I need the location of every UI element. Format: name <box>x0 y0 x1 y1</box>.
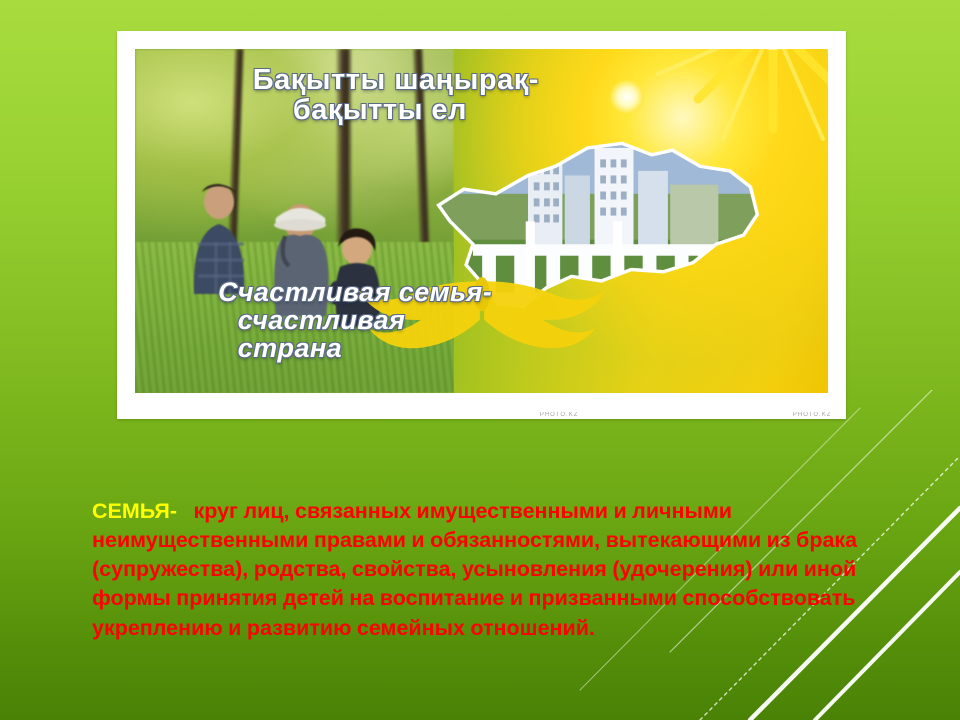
picture-frame[interactable]: Бақытты шаңырақ-бақытты ел Счастливая се… <box>117 31 846 419</box>
poster-title-kz-line2: бақытты ел <box>253 96 539 126</box>
definition-term: СЕМЬЯ- <box>92 499 177 523</box>
poster-watermark-right: PHOTO.KZ <box>793 412 832 418</box>
definition-gap <box>177 499 193 523</box>
poster-title-ru-line1: Счастливая семья- <box>218 277 492 307</box>
poster-title-russian: Счастливая семья-счастливая страна <box>218 279 498 362</box>
poster-image: Бақытты шаңырақ-бақытты ел Счастливая се… <box>135 49 828 393</box>
poster-watermark-left: PHOTO.KZ <box>540 412 579 418</box>
poster-title-ru-line2: счастливая страна <box>218 307 498 362</box>
sun-core-icon <box>610 80 644 114</box>
poster-title-kz-line1: Бақытты шаңырақ- <box>253 64 539 96</box>
poster-title-kazakh: Бақытты шаңырақ-бақытты ел <box>253 66 539 125</box>
definition-body-text: круг лиц, связанных имущественными и лич… <box>92 499 857 640</box>
definition-paragraph: СЕМЬЯ- круг лиц, связанных имущественным… <box>92 497 892 643</box>
slide-canvas: Бақытты шаңырақ-бақытты ел Счастливая се… <box>0 0 960 720</box>
